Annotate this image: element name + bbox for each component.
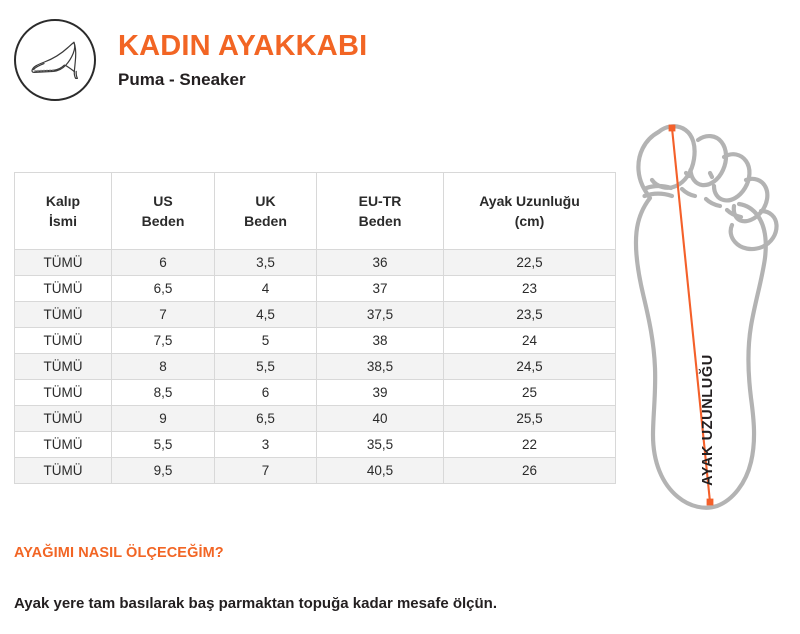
header-line-1: US [116,191,210,211]
header-line-1: EU-TR [321,191,439,211]
cell-eu-tr-beden: 40 [317,406,444,432]
header-line-1: UK [219,191,312,211]
cell-us-beden: 5,5 [112,432,215,458]
header-line-1: Ayak Uzunluğu [448,191,611,211]
size-chart-body: TÜMÜ63,53622,5TÜMÜ6,543723TÜMÜ74,537,523… [15,250,616,484]
column-header-kalip-ismi: Kalıp İsmi [15,173,112,250]
table-row: TÜMÜ74,537,523,5 [15,302,616,328]
cell-us-beden: 8,5 [112,380,215,406]
cell-kalip-ismi: TÜMÜ [15,302,112,328]
cell-ayak-uzunlugu: 25,5 [444,406,616,432]
cell-eu-tr-beden: 38 [317,328,444,354]
cell-us-beden: 6 [112,250,215,276]
cell-us-beden: 6,5 [112,276,215,302]
cell-kalip-ismi: TÜMÜ [15,354,112,380]
column-header-eu-tr-beden: EU-TR Beden [317,173,444,250]
cell-ayak-uzunlugu: 25 [444,380,616,406]
cell-uk-beden: 5 [215,328,317,354]
cell-us-beden: 9 [112,406,215,432]
cell-ayak-uzunlugu: 26 [444,458,616,484]
cell-kalip-ismi: TÜMÜ [15,328,112,354]
cell-ayak-uzunlugu: 24 [444,328,616,354]
column-header-uk-beden: UK Beden [215,173,317,250]
table-row: TÜMÜ9,5740,526 [15,458,616,484]
cell-ayak-uzunlugu: 23,5 [444,302,616,328]
cell-ayak-uzunlugu: 24,5 [444,354,616,380]
table-row: TÜMÜ96,54025,5 [15,406,616,432]
cell-uk-beden: 6,5 [215,406,317,432]
table-row: TÜMÜ7,553824 [15,328,616,354]
table-row: TÜMÜ85,538,524,5 [15,354,616,380]
cell-eu-tr-beden: 37,5 [317,302,444,328]
header-line-2: Beden [219,211,312,231]
cell-us-beden: 8 [112,354,215,380]
header-line-2: İsmi [19,211,107,231]
cell-eu-tr-beden: 39 [317,380,444,406]
how-to-measure-note: Ayak yere tam basılarak baş parmaktan to… [14,595,634,612]
cell-eu-tr-beden: 35,5 [317,432,444,458]
header-text-block: KADIN AYAKKABI Puma - Sneaker [118,30,367,90]
cell-kalip-ismi: TÜMÜ [15,276,112,302]
cell-uk-beden: 4 [215,276,317,302]
column-header-ayak-uzunlugu: Ayak Uzunluğu (cm) [444,173,616,250]
cell-uk-beden: 4,5 [215,302,317,328]
cell-us-beden: 7 [112,302,215,328]
header-line-2: Beden [321,211,439,231]
cell-kalip-ismi: TÜMÜ [15,250,112,276]
cell-uk-beden: 6 [215,380,317,406]
cell-us-beden: 7,5 [112,328,215,354]
table-row: TÜMÜ5,5335,522 [15,432,616,458]
how-to-measure-heading: AYAĞIMI NASIL ÖLÇECEĞİM? [14,545,634,561]
page-title: KADIN AYAKKABI [118,30,367,63]
header-line-2: (cm) [448,211,611,231]
high-heel-shoe-icon [14,19,96,101]
cell-kalip-ismi: TÜMÜ [15,432,112,458]
cell-ayak-uzunlugu: 22 [444,432,616,458]
cell-uk-beden: 3,5 [215,250,317,276]
table-row: TÜMÜ63,53622,5 [15,250,616,276]
cell-eu-tr-beden: 37 [317,276,444,302]
table-row: TÜMÜ8,563925 [15,380,616,406]
size-chart-table: Kalıp İsmi US Beden UK Beden EU-TR Beden… [14,172,616,484]
cell-uk-beden: 3 [215,432,317,458]
cell-kalip-ismi: TÜMÜ [15,406,112,432]
cell-eu-tr-beden: 40,5 [317,458,444,484]
cell-ayak-uzunlugu: 22,5 [444,250,616,276]
table-row: TÜMÜ6,543723 [15,276,616,302]
foot-length-label: AYAK UZUNLUĞU [698,354,716,486]
header-line-2: Beden [116,211,210,231]
table-header-row: Kalıp İsmi US Beden UK Beden EU-TR Beden… [15,173,616,250]
cell-eu-tr-beden: 36 [317,250,444,276]
cell-kalip-ismi: TÜMÜ [15,458,112,484]
column-header-us-beden: US Beden [112,173,215,250]
header-line-1: Kalıp [19,191,107,211]
page-subtitle: Puma - Sneaker [118,70,367,90]
cell-ayak-uzunlugu: 23 [444,276,616,302]
cell-uk-beden: 7 [215,458,317,484]
cell-eu-tr-beden: 38,5 [317,354,444,380]
page-header: KADIN AYAKKABI Puma - Sneaker [14,12,614,108]
cell-us-beden: 9,5 [112,458,215,484]
cell-kalip-ismi: TÜMÜ [15,380,112,406]
cell-uk-beden: 5,5 [215,354,317,380]
foot-sole-diagram: AYAK UZUNLUĞU [620,110,800,530]
footer-block: AYAĞIMI NASIL ÖLÇECEĞİM? Ayak yere tam b… [14,545,634,612]
